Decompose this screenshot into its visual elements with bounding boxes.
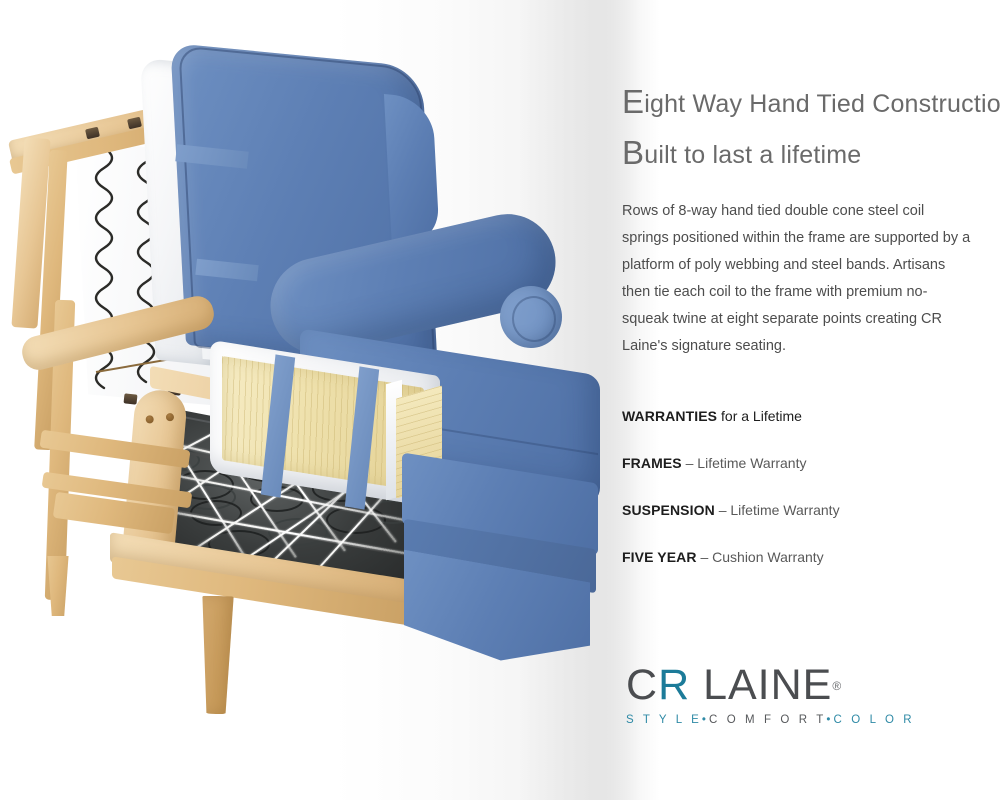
warranty-term: SUSPENSION	[622, 502, 715, 518]
cr-laine-logo: CR LAINE® S T Y L E•C O M F O R T•C O L …	[626, 664, 846, 726]
headline-line-2: Built to last a lifetime	[622, 143, 974, 168]
dowel-hole	[145, 415, 154, 424]
dowel-hole	[166, 413, 175, 422]
tagline-dot-icon: •	[826, 714, 833, 726]
logo-letter-c: C	[626, 661, 658, 709]
headline-block: Eight Way Hand Tied Construction… Built …	[622, 92, 974, 194]
warranty-item-suspension: SUSPENSION – Lifetime Warranty	[622, 502, 974, 518]
warranty-term: FRAMES	[622, 455, 682, 471]
tagline-color: C O L O R	[834, 714, 915, 726]
warranties-heading-rest: for a Lifetime	[717, 408, 802, 424]
tagline-style: S T Y L E	[626, 714, 702, 726]
tagline-comfort: C O M F O R T	[709, 714, 826, 726]
chair-cutaway-photo	[0, 0, 620, 800]
registered-mark-icon: ®	[832, 679, 841, 693]
body-copy-paragraph: Rows of 8-way hand tied double cone stee…	[622, 198, 974, 360]
warranty-item-five-year: FIVE YEAR – Cushion Warranty	[622, 549, 974, 565]
headline-line-1: Eight Way Hand Tied Construction…	[622, 92, 974, 117]
warranty-separator: –	[715, 502, 731, 518]
warranty-description: Lifetime Warranty	[730, 502, 839, 518]
logo-space	[690, 661, 703, 709]
warranties-block: WARRANTIES for a Lifetime FRAMES – Lifet…	[622, 408, 974, 565]
poster-canvas: Eight Way Hand Tied Construction… Built …	[0, 0, 1000, 800]
warranty-term: FIVE YEAR	[622, 549, 697, 565]
warranties-heading: WARRANTIES for a Lifetime	[622, 408, 974, 424]
warranty-separator: –	[697, 549, 713, 565]
warranties-heading-term: WARRANTIES	[622, 408, 717, 424]
warranty-item-frames: FRAMES – Lifetime Warranty	[622, 455, 974, 471]
tagline-dot-icon: •	[702, 714, 709, 726]
headline-line-2-cap: B	[622, 134, 644, 171]
tapered-wood-leg	[199, 596, 235, 715]
logo-laine: LAINE	[703, 661, 832, 709]
logo-letter-r: R	[658, 661, 690, 709]
warranty-description: Lifetime Warranty	[697, 455, 806, 471]
logo-tagline: S T Y L E•C O M F O R T•C O L O R	[626, 714, 846, 726]
headline-line-1-cap: E	[622, 83, 644, 120]
headline-line-2-text: uilt to last a lifetime	[644, 141, 861, 169]
headline-line-1-text: ight Way Hand Tied Construction…	[644, 90, 1000, 118]
logo-wordmark: CR LAINE®	[626, 664, 846, 707]
spring-clip	[124, 393, 138, 404]
body-copy-block: Rows of 8-way hand tied double cone stee…	[622, 198, 974, 360]
back-cushion-scalloped-edge	[384, 94, 440, 248]
warranty-separator: –	[682, 455, 698, 471]
warranty-description: Cushion Warranty	[712, 549, 824, 565]
